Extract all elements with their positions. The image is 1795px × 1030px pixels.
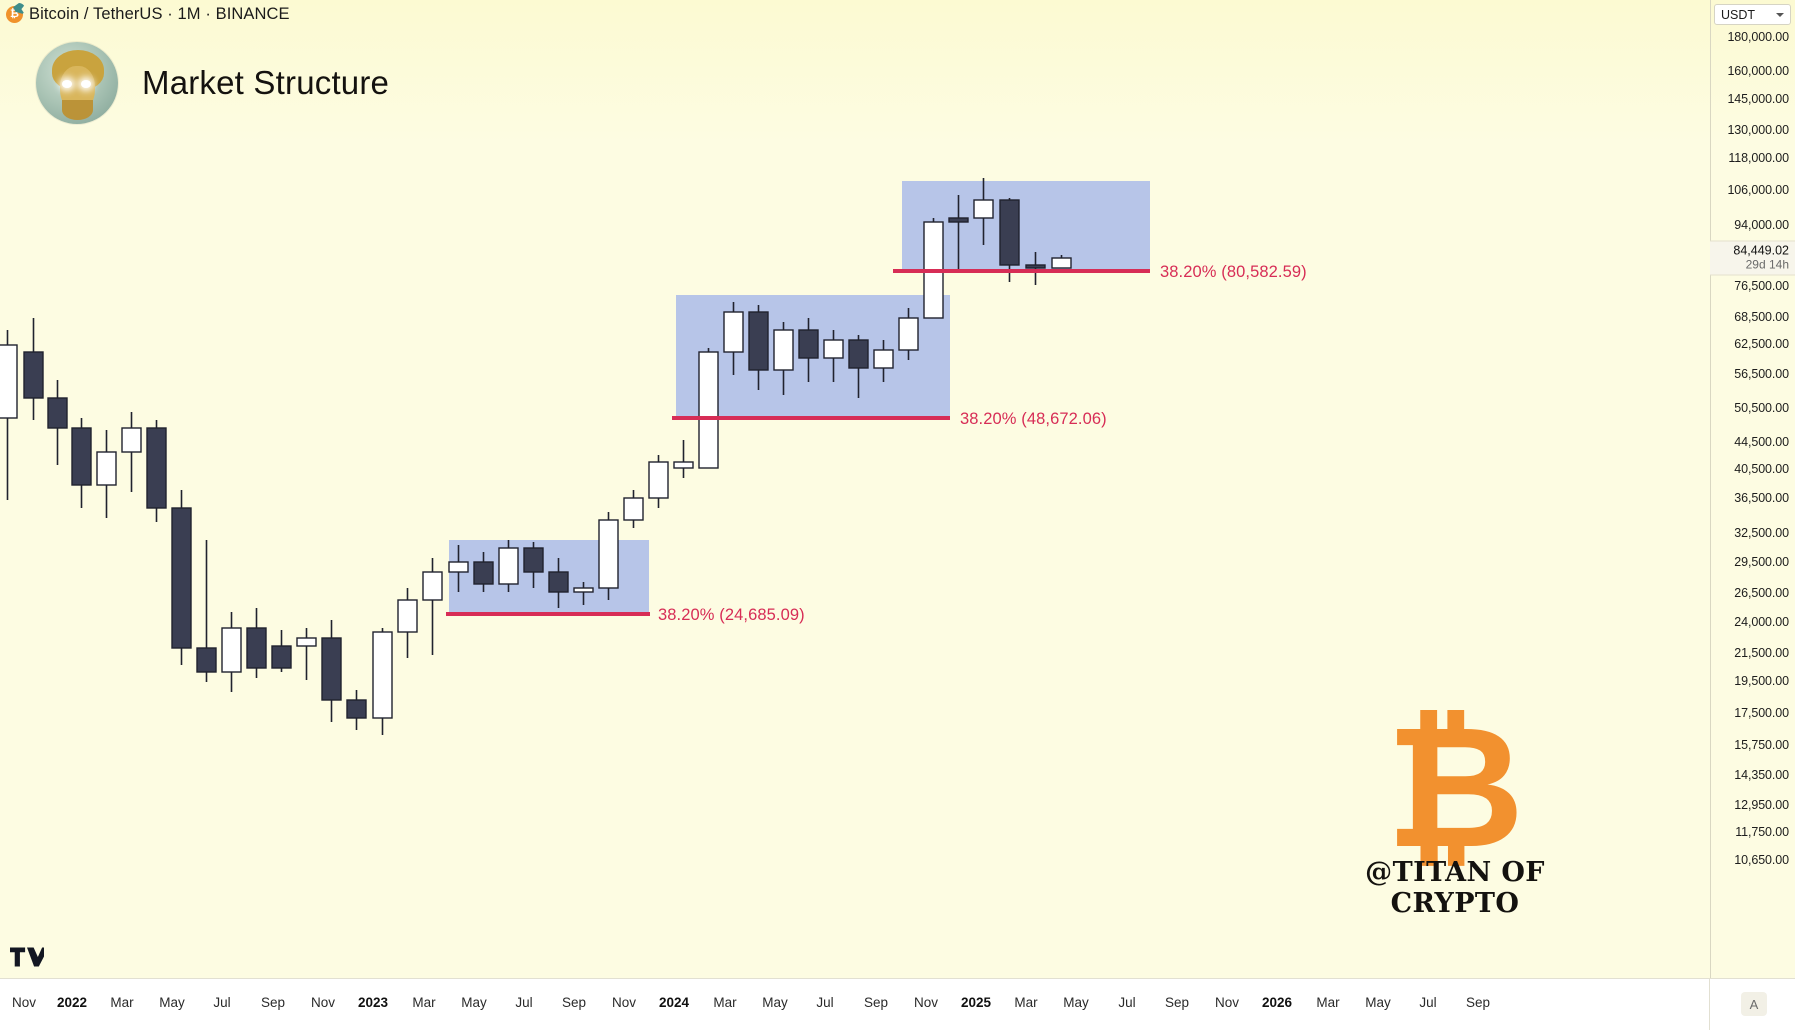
chevron-down-icon — [1776, 13, 1784, 17]
symbol-bar[interactable]: ₿ Bitcoin / TetherUS · 1M · BINANCE — [0, 0, 290, 28]
time-tick: Sep — [562, 995, 586, 1010]
price-tick: 68,500.00 — [1734, 310, 1789, 324]
price-tick: 130,000.00 — [1727, 123, 1789, 137]
current-price-badge: 84,449.02 29d 14h — [1710, 241, 1795, 276]
tradingview-logo-icon — [10, 946, 44, 968]
price-tick: 15,750.00 — [1734, 738, 1789, 752]
time-tick: Jul — [1419, 995, 1436, 1010]
avatar-eye-right — [81, 80, 91, 88]
time-tick: May — [1365, 995, 1391, 1010]
time-tick: Mar — [713, 995, 736, 1010]
candle — [122, 412, 141, 492]
price-tick: 180,000.00 — [1727, 30, 1789, 44]
time-tick: 2026 — [1262, 995, 1292, 1010]
price-tick: 12,950.00 — [1734, 798, 1789, 812]
price-tick: 118,000.00 — [1728, 151, 1789, 165]
price-tick: 29,500.00 — [1734, 555, 1789, 569]
price-tick: 17,500.00 — [1734, 706, 1789, 720]
price-tick: 21,500.00 — [1734, 646, 1789, 660]
price-tick: 26,500.00 — [1734, 586, 1789, 600]
avatar — [36, 42, 118, 124]
symbol-label[interactable]: Bitcoin / TetherUS · 1M · BINANCE — [29, 5, 290, 24]
time-tick: 2023 — [358, 995, 388, 1010]
price-tick: 62,500.00 — [1734, 337, 1789, 351]
price-tick: 40,500.00 — [1734, 462, 1789, 476]
candle — [322, 620, 341, 722]
zone-rectangles — [449, 181, 1150, 614]
currency-label: USDT — [1721, 8, 1755, 22]
time-tick: Sep — [1466, 995, 1490, 1010]
candle — [172, 490, 191, 665]
candle — [347, 690, 366, 730]
time-tick: 2024 — [659, 995, 689, 1010]
currency-select[interactable]: USDT — [1714, 4, 1791, 25]
time-tick: Jul — [515, 995, 532, 1010]
candle — [72, 418, 91, 508]
price-tick: 11,750.00 — [1735, 825, 1789, 839]
price-tick: 145,000.00 — [1727, 92, 1789, 106]
bitcoin-coin-icon: ₿ — [6, 6, 23, 23]
price-axis[interactable]: USDT 180,000.00160,000.00145,000.00130,0… — [1710, 0, 1795, 978]
candlestick-svg — [0, 0, 1710, 978]
candle — [297, 628, 316, 680]
time-tick: Jul — [816, 995, 833, 1010]
candle — [699, 348, 718, 468]
price-tick: 106,000.00 — [1727, 183, 1789, 197]
current-price-value: 84,449.02 — [1716, 244, 1789, 258]
time-tick: Nov — [1215, 995, 1239, 1010]
time-tick: Sep — [261, 995, 285, 1010]
time-axis[interactable]: Nov2022MarMayJulSepNov2023MarMayJulSepNo… — [0, 978, 1795, 1030]
candle — [649, 455, 668, 508]
price-tick: 76,500.00 — [1734, 279, 1789, 293]
candle — [97, 430, 116, 518]
candle — [599, 512, 618, 600]
price-tick: 160,000.00 — [1727, 64, 1789, 78]
candle — [373, 628, 392, 735]
price-tick: 19,500.00 — [1734, 674, 1789, 688]
price-tick: 50,500.00 — [1734, 401, 1789, 415]
axis-divider — [1709, 979, 1710, 1030]
time-tick: Jul — [1118, 995, 1135, 1010]
auto-scale-button[interactable]: A — [1741, 992, 1767, 1016]
price-tick: 32,500.00 — [1734, 526, 1789, 540]
time-tick: Mar — [110, 995, 133, 1010]
time-tick: 2022 — [57, 995, 87, 1010]
avatar-eye-left — [62, 80, 72, 88]
time-tick: Sep — [864, 995, 888, 1010]
fib-level-label: 38.20% (80,582.59) — [1160, 263, 1307, 282]
tradingview-chart-screenshot: ₿ Bitcoin / TetherUS · 1M · BINANCE Mark… — [0, 0, 1795, 1030]
price-tick: 44,500.00 — [1734, 435, 1789, 449]
candle — [24, 318, 43, 420]
time-tick: Sep — [1165, 995, 1189, 1010]
time-tick: May — [762, 995, 788, 1010]
chart-plot-area[interactable] — [0, 0, 1710, 978]
candle — [147, 420, 166, 522]
time-tick: Mar — [1316, 995, 1339, 1010]
candle — [499, 540, 518, 592]
time-tick: Mar — [1014, 995, 1037, 1010]
candle — [222, 612, 241, 692]
candle — [48, 380, 67, 465]
avatar-beard — [62, 100, 93, 120]
price-tick: 14,350.00 — [1734, 768, 1789, 782]
time-tick: Jul — [213, 995, 230, 1010]
price-tick: 56,500.00 — [1734, 367, 1789, 381]
bar-countdown: 29d 14h — [1716, 258, 1789, 272]
price-tick: 24,000.00 — [1734, 615, 1789, 629]
time-tick: 2025 — [961, 995, 991, 1010]
page-title: Market Structure — [142, 64, 389, 102]
time-tick: Nov — [311, 995, 335, 1010]
time-tick: Mar — [412, 995, 435, 1010]
time-tick: May — [159, 995, 185, 1010]
time-tick: Nov — [612, 995, 636, 1010]
time-tick: May — [461, 995, 487, 1010]
candle — [398, 588, 417, 658]
time-tick: May — [1063, 995, 1089, 1010]
price-tick: 36,500.00 — [1734, 491, 1789, 505]
time-tick: Nov — [12, 995, 36, 1010]
candle — [247, 608, 266, 678]
candle — [624, 490, 643, 528]
candle — [0, 330, 17, 500]
candle — [674, 440, 693, 478]
title-block: Market Structure — [36, 42, 389, 124]
time-tick: Nov — [914, 995, 938, 1010]
candle — [197, 540, 216, 682]
fib-level-label: 38.20% (24,685.09) — [658, 606, 805, 625]
fib-level-label: 38.20% (48,672.06) — [960, 410, 1107, 429]
candle — [272, 630, 291, 672]
candle — [924, 218, 943, 318]
candle — [423, 558, 442, 655]
price-tick: 10,650.00 — [1734, 853, 1789, 867]
price-tick: 94,000.00 — [1734, 218, 1789, 232]
